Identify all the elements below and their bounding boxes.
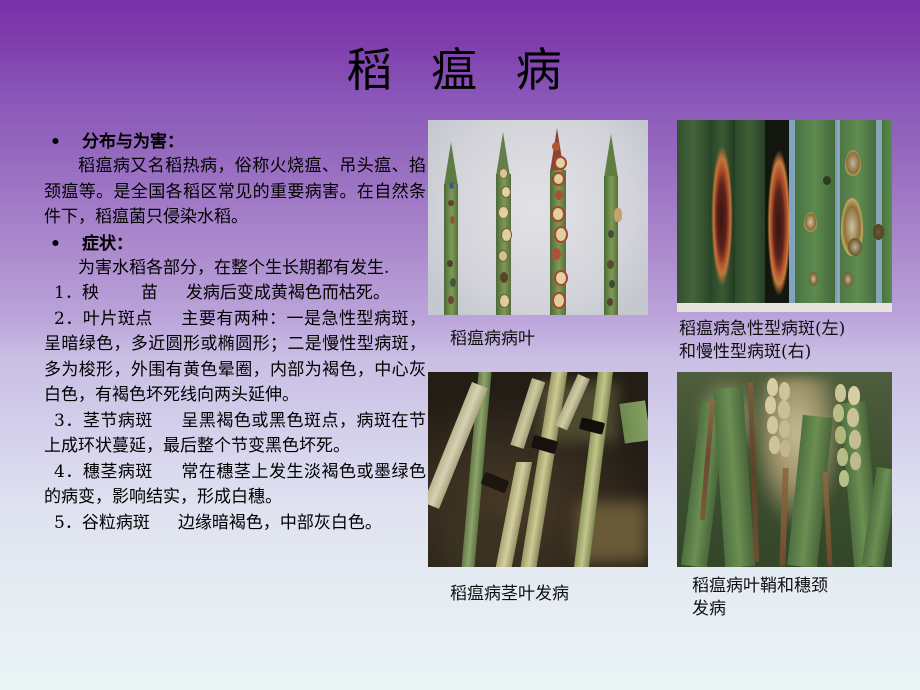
symptom-item-3-num: 3． <box>54 411 83 431</box>
slide-canvas: 稻 瘟 病 •分布与为害： 稻瘟病又名稻热病，俗称火烧瘟、吊头瘟、掐颈瘟等。是全… <box>0 0 920 690</box>
photo-acute-chronic-lesions <box>677 120 892 312</box>
symptom-item-1-term: 秧 <box>82 283 99 303</box>
symptom-item-2-num: 2． <box>54 309 83 329</box>
symptom-item-3: 3．茎节病斑呈黑褐色或黑色斑点，病斑在节上成环状蔓延，最后整个节变黑色坏死。 <box>44 409 426 460</box>
symptom-item-4-num: 4． <box>54 462 83 482</box>
symptom-item-1-desc: 发病后变成黄褐色而枯死。 <box>186 283 390 303</box>
photo-caption-stem-node-blast: 稻瘟病茎叶发病 <box>450 583 660 606</box>
symptom-item-1-num: 1． <box>54 283 82 303</box>
heading-distribution-label: 分布与为害： <box>82 132 184 152</box>
bullet-heading-distribution: •分布与为害： <box>44 131 426 153</box>
bullet-dot-icon: • <box>50 233 61 255</box>
symptom-item-2: 2．叶片斑点主要有两种：一是急性型病斑，呈暗绿色，多近圆形或椭圆形；二是慢性型病… <box>44 307 426 409</box>
symptom-item-5-num: 5． <box>54 513 82 533</box>
content-text-column: •分布与为害： 稻瘟病又名稻热病，俗称火烧瘟、吊头瘟、掐颈瘟等。是全国各稻区常见… <box>44 131 426 536</box>
photo-caption-sheath-neck-blast: 稻瘟病叶鞘和穗颈 发病 <box>692 575 907 621</box>
symptom-item-5-desc: 边缘暗褐色，中部灰白色。 <box>178 513 382 533</box>
symptom-item-5: 5．谷粒病斑边缘暗褐色，中部灰白色。 <box>44 511 426 537</box>
heading-symptoms-label: 症状： <box>82 234 133 254</box>
bullet-dot-icon: • <box>50 131 61 153</box>
photo-caption-diseased-leaves: 稻瘟病病叶 <box>450 328 650 351</box>
page-title: 稻 瘟 病 <box>0 46 920 94</box>
symptom-item-4: 4．穗茎病斑常在穗茎上发生淡褐色或墨绿色的病变，影响结实，形成白穗。 <box>44 460 426 511</box>
symptom-item-5-term: 谷粒病斑 <box>82 513 150 533</box>
paragraph-distribution: 稻瘟病又名稻热病，俗称火烧瘟、吊头瘟、掐颈瘟等。是全国各稻区常见的重要病害。在自… <box>44 154 426 231</box>
symptom-item-4-term: 穗茎病斑 <box>83 462 153 482</box>
paragraph-symptoms: 为害水稻各部分，在整个生长期都有发生. <box>44 256 426 282</box>
photo-stem-node-blast <box>428 372 648 567</box>
symptom-item-1: 1．秧苗发病后变成黄褐色而枯死。 <box>44 281 426 307</box>
photo-sheath-neck-blast <box>677 372 892 567</box>
bullet-heading-symptoms: •症状： <box>44 233 426 255</box>
symptom-item-2-term: 叶片斑点 <box>83 309 153 329</box>
symptom-item-3-term: 茎节病斑 <box>83 411 153 431</box>
photo-diseased-leaves <box>428 120 648 315</box>
photo-caption-acute-chronic-lesions: 稻瘟病急性型病斑(左) 和慢性型病斑(右) <box>679 318 909 364</box>
symptom-item-1-term2: 苗 <box>141 283 158 303</box>
